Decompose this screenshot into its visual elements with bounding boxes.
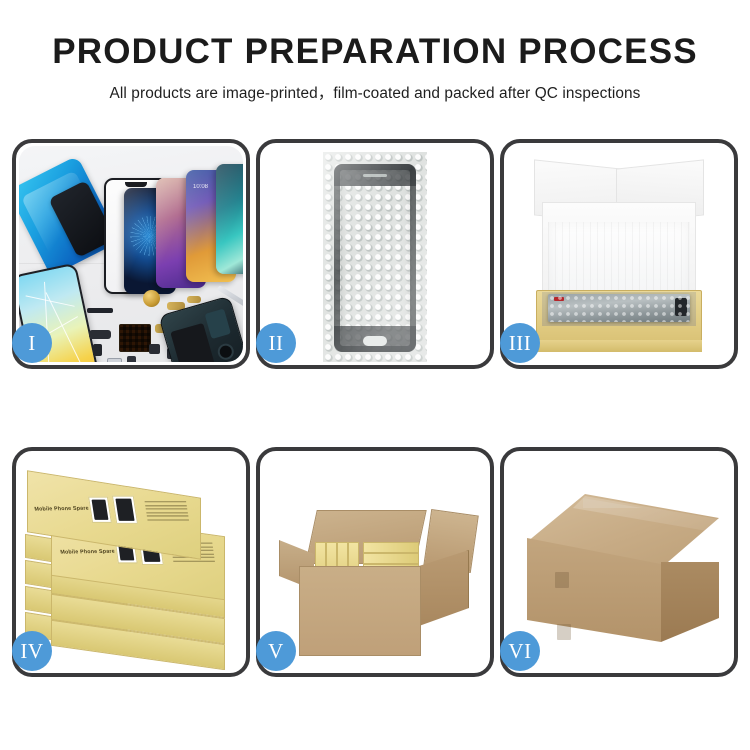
step-panel-4: Mobile Phone Spare Parts Mobile Phone Sp… <box>12 447 250 677</box>
box-stack: Mobile Phone Spare Parts Mobile Phone Sp… <box>25 472 239 668</box>
page-title: PRODUCT PREPARATION PROCESS <box>0 34 750 71</box>
connector-grid-part <box>119 324 151 352</box>
box-artwork-phone <box>112 496 138 524</box>
carton-side-panel <box>661 562 719 642</box>
step-image-4: Mobile Phone Spare Parts Mobile Phone Sp… <box>19 454 243 670</box>
step-image-1: 10:08 <box>19 146 243 362</box>
plastic-sheen <box>323 152 427 362</box>
step-badge-4: IV <box>12 631 52 671</box>
red-label <box>554 297 564 301</box>
camera-module-part <box>89 330 111 339</box>
step-badge-2: II <box>256 323 296 363</box>
flex-cable-part <box>187 296 201 303</box>
earpiece-slot <box>363 174 387 177</box>
carton-front-panel <box>299 566 421 656</box>
step-panel-6: VI <box>500 447 738 677</box>
phone-fan: 10:08 <box>124 166 243 296</box>
retail-box-item <box>363 553 419 564</box>
step-badge-3: III <box>500 323 540 363</box>
sim-tray-part <box>107 358 122 362</box>
button-part <box>127 356 136 362</box>
sealed-shipping-carton <box>527 476 719 666</box>
step-image-2 <box>263 146 487 362</box>
box-spec-lines <box>145 501 190 523</box>
step-panel-1: 10:08 <box>12 139 250 369</box>
step-badge-5: V <box>256 631 296 671</box>
step-badge-1: I <box>12 323 52 363</box>
antenna-bar-part <box>87 308 113 313</box>
home-button <box>363 336 387 346</box>
speaker-part <box>149 344 160 354</box>
box-artwork-phone <box>88 497 112 523</box>
mainboard <box>205 309 231 340</box>
wrapped-screen-in-box <box>548 294 690 322</box>
box-front-flap <box>536 340 702 352</box>
step-image-6 <box>507 454 731 670</box>
phone-clock: 10:08 <box>193 184 208 190</box>
camera-module-part <box>93 344 102 356</box>
page-subtitle: All products are image-printed，film-coat… <box>0 81 750 103</box>
step-image-5 <box>263 454 487 670</box>
step-badge-6: VI <box>500 631 540 671</box>
speaker-coil-part <box>143 290 160 307</box>
step-panel-5: V <box>256 447 494 677</box>
bubble-wrap-sheet <box>323 152 427 362</box>
header: PRODUCT PREPARATION PROCESS All products… <box>0 0 750 103</box>
step-panel-3: III <box>500 139 738 369</box>
open-shipping-carton <box>277 480 475 666</box>
product-preparation-infographic: PRODUCT PREPARATION PROCESS All products… <box>0 0 750 750</box>
connector <box>675 298 687 316</box>
carton-hand-hole <box>557 624 571 640</box>
camera-lens <box>216 342 236 362</box>
steps-grid: 10:08 <box>12 139 738 677</box>
phone-teal <box>216 164 243 274</box>
retail-box-item <box>363 542 419 553</box>
open-kraft-box <box>528 160 710 356</box>
step-image-3 <box>507 146 731 362</box>
foam-padding <box>548 222 690 300</box>
step-panel-2: II <box>256 139 494 369</box>
carton-hand-hole <box>555 572 569 588</box>
